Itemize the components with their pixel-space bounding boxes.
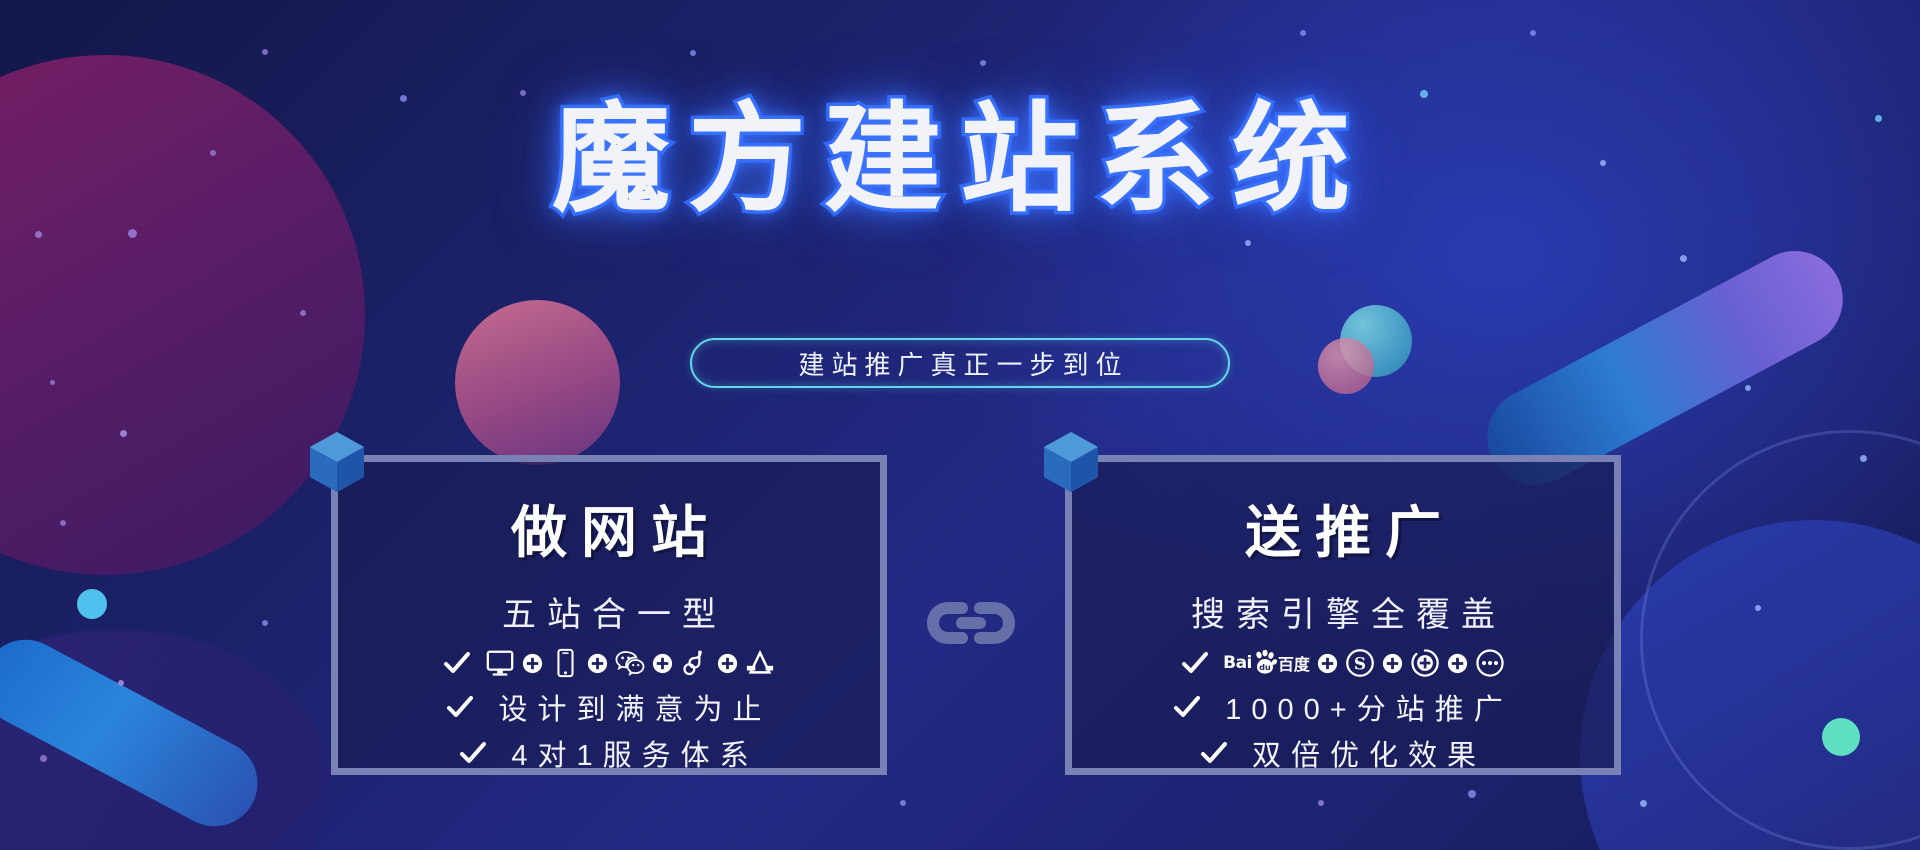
feature-row: 1000+分站推广 xyxy=(1173,690,1512,724)
star-dot xyxy=(900,800,906,806)
baidu-label-du: du xyxy=(1259,663,1271,672)
360-search-icon xyxy=(1410,648,1440,678)
bottom-left-glow xyxy=(0,630,330,850)
chain-link-icon xyxy=(918,588,1024,658)
card-subtitle-free-promotion: 搜索引擎全覆盖 xyxy=(1180,587,1506,636)
star-dot xyxy=(118,680,124,686)
plus-circle-icon xyxy=(717,653,738,674)
right-bottom-blob xyxy=(1580,520,1920,850)
plus-circle-icon xyxy=(1382,653,1403,674)
baidu-label-bai: Bai xyxy=(1223,653,1252,673)
mini-program-icon xyxy=(745,648,775,678)
feature-row: 双倍优化效果 xyxy=(1200,736,1486,770)
star-dot xyxy=(40,755,47,762)
card-make-website: 做网站 五站合一型 xyxy=(331,455,887,775)
feature-row: 设计到满意为止 xyxy=(446,690,771,724)
star-dot xyxy=(262,620,268,626)
feature-text: 设计到满意为止 xyxy=(488,686,771,728)
blue-streak-bottom-left xyxy=(0,625,273,842)
icon-row-platforms xyxy=(443,648,775,678)
star-dot xyxy=(690,50,696,56)
wechat-icon xyxy=(615,648,645,678)
star-dot xyxy=(60,520,66,526)
star-dot xyxy=(120,430,127,437)
right-arc-ring xyxy=(1640,430,1920,850)
subtitle-pill: 建站推广真正一步到位 xyxy=(690,338,1230,388)
plus-circle-icon xyxy=(1447,653,1468,674)
star-dot xyxy=(1640,800,1647,807)
star-dot xyxy=(1755,605,1761,611)
star-dot xyxy=(1245,240,1251,246)
douyin-icon xyxy=(680,648,710,678)
mobile-phone-icon xyxy=(550,648,580,678)
check-icon xyxy=(443,649,471,677)
baidu-label-cn: 百度 xyxy=(1278,651,1310,675)
desktop-monitor-icon xyxy=(485,648,515,678)
star-dot xyxy=(300,310,306,316)
sogou-icon: S xyxy=(1345,648,1375,678)
more-ellipsis-icon xyxy=(1475,648,1505,678)
star-dot xyxy=(50,380,55,385)
star-dot xyxy=(128,229,137,238)
star-dot xyxy=(1680,255,1687,262)
star-dot xyxy=(1530,30,1536,36)
check-icon xyxy=(459,739,487,767)
feature-text: 1000+分站推广 xyxy=(1215,686,1512,728)
check-icon xyxy=(1173,693,1201,721)
check-icon xyxy=(1200,739,1228,767)
star-dot xyxy=(35,231,42,238)
plus-circle-icon xyxy=(522,653,543,674)
page-title: 魔方建站系统 xyxy=(0,95,1920,225)
magenta-sphere xyxy=(455,300,620,465)
teal-bubble xyxy=(1340,305,1412,377)
feature-text: 双倍优化效果 xyxy=(1242,732,1486,774)
star-dot xyxy=(1745,385,1751,391)
star-dot xyxy=(1468,790,1476,798)
card-subtitle-make-website: 五站合一型 xyxy=(491,587,727,636)
mint-dot xyxy=(1822,718,1860,756)
card-title-make-website: 做网站 xyxy=(497,488,721,569)
baidu-logo-icon: Bai du 百度 xyxy=(1223,650,1310,676)
star-dot xyxy=(1318,800,1324,806)
star-dot xyxy=(262,49,268,55)
svg-text:S: S xyxy=(1354,654,1366,674)
banner-root: 魔方建站系统 魔方建站系统 建站推广真正一步到位 做网站 五站合一型 xyxy=(0,0,1920,850)
plus-circle-icon xyxy=(652,653,673,674)
subtitle-text: 建站推广真正一步到位 xyxy=(791,345,1128,382)
check-icon xyxy=(1181,649,1209,677)
cube-icon xyxy=(306,430,368,496)
baidu-paw-icon: du xyxy=(1253,650,1277,676)
check-icon xyxy=(446,693,474,721)
star-dot xyxy=(980,60,986,66)
star-dot xyxy=(1300,30,1306,36)
icon-row-search-engines: Bai du 百度 xyxy=(1181,648,1505,678)
pink-bubble xyxy=(1318,338,1374,394)
plus-circle-icon xyxy=(587,653,608,674)
plus-circle-icon xyxy=(1317,653,1338,674)
card-title-free-promotion: 送推广 xyxy=(1231,488,1455,569)
feature-text: 4对1服务体系 xyxy=(501,732,758,774)
cyan-dot xyxy=(77,589,107,619)
card-free-promotion: 送推广 搜索引擎全覆盖 Bai du 百度 xyxy=(1065,455,1621,775)
feature-row: 4对1服务体系 xyxy=(459,736,758,770)
star-dot xyxy=(1860,455,1867,462)
cube-icon xyxy=(1040,430,1102,496)
